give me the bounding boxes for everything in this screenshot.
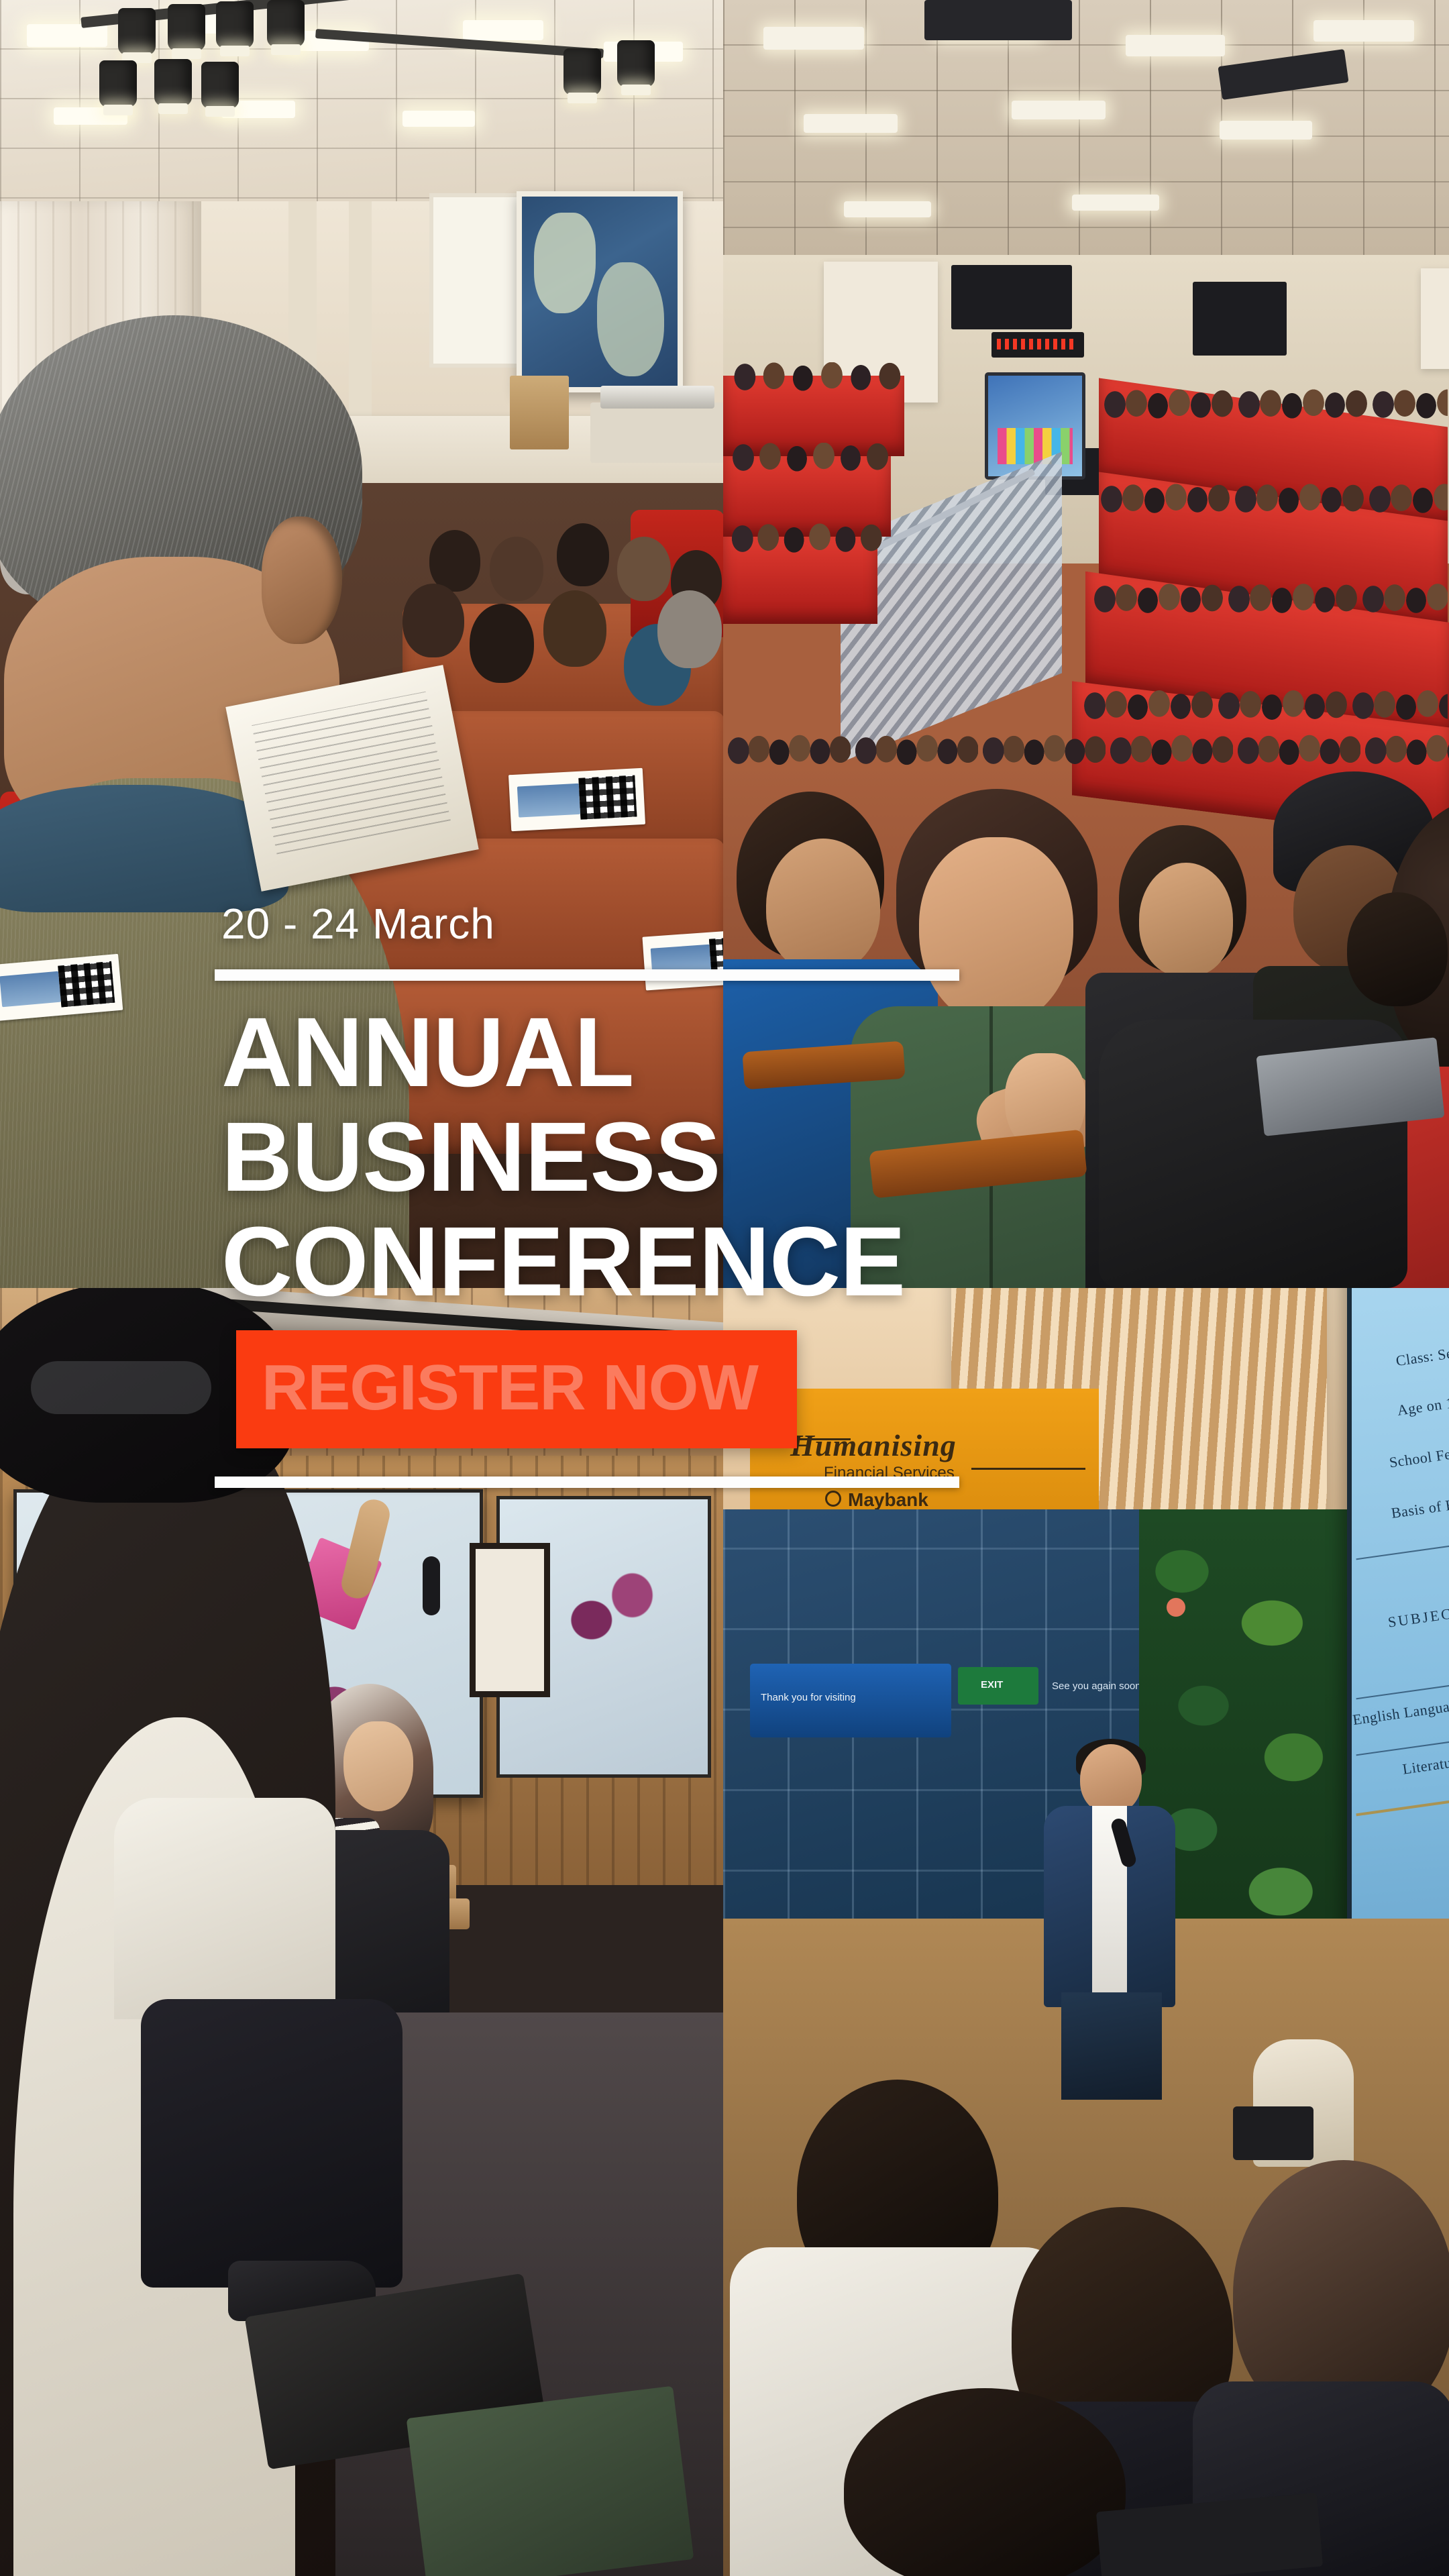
event-speaker [1032,1744,1186,2093]
event-date: 20 - 24 March [221,902,1449,945]
framed-artwork [470,1543,550,1697]
stage-spotlight [563,48,601,95]
screen-row-4: Basis of Eli [1391,1495,1449,1522]
poster-title: ANNUAL BUSINESS CONFERENCE [221,1001,1449,1314]
stage-spotlight [118,8,156,55]
crowd-row [723,523,884,554]
title-line-2: BUSINESS [221,1106,1449,1210]
poster-text-overlay: 20 - 24 March ANNUAL BUSINESS CONFERENCE… [0,902,1449,1488]
ceiling-lamp [1313,20,1414,42]
projector-table [590,402,723,463]
ceiling-lamp [804,114,898,133]
ceiling-rig [924,0,1072,40]
welcome-sign-text: See you again soon! [1052,1680,1144,1692]
stage-spotlight [154,59,192,106]
audience-head [470,604,534,683]
audience-head [557,523,609,586]
attendee-tshirt [114,1798,335,2019]
screen-subject-2: Literature [1401,1752,1449,1778]
ceiling-lamp [1220,121,1312,140]
side-tablet [1233,2106,1313,2160]
crowd-row [1095,483,1448,515]
audience-head [617,537,671,601]
wall-monitor [951,265,1072,329]
speaker-face [1080,1744,1142,1814]
maybank-logo-icon [825,1491,841,1507]
foreground-head [844,2388,1126,2576]
stage-spotlight [201,62,239,109]
led-display [991,332,1084,358]
ceiling-lamp [844,201,931,217]
microphone-stand [423,1556,440,1615]
divider-bottom [215,1477,959,1488]
crowd-row [723,362,904,392]
ceiling-lamp [463,20,543,40]
crowd-row [1079,688,1448,723]
exit-banner: Thank you for visiting [750,1664,951,1737]
stage-spotlight [267,0,305,47]
speaker-blazer [1044,1806,1175,2007]
ceiling-lamp [402,111,475,127]
maybank-brand: Maybank [848,1489,928,1511]
screen-rule [1356,1798,1449,1816]
attendee-ear [262,517,342,644]
stage-spotlight [99,60,137,107]
conference-poster: Humanising Financial Services Maybank Th… [0,0,1449,2576]
ceiling-lamp [1126,35,1225,56]
green-notebook [407,2386,694,2576]
divider-top [215,969,959,981]
projector [600,386,714,409]
audience-head [657,590,722,668]
register-now-button[interactable]: REGISTER NOW [236,1330,797,1448]
ceiling-lamp [763,27,864,50]
speaker-trousers [1061,1992,1162,2100]
wall-panel [1421,268,1449,369]
qr-code [578,775,637,820]
crowd-row [723,443,891,472]
badge-logo [517,784,580,817]
crowd-row [1099,389,1448,420]
seat-qr-badge [508,768,645,831]
screen-rule [1356,1543,1449,1560]
stage-spotlight [168,4,205,51]
ceiling-lamp [1012,101,1106,119]
exit-sign: EXIT [958,1667,1038,1705]
podium [510,376,569,449]
audience-head [543,590,606,667]
ceiling-lamp [1072,195,1159,211]
crowd-row [1089,582,1448,616]
slide-ornament [533,1538,679,1703]
screen-rule [1356,1682,1449,1699]
attendee-trousers [141,1999,402,2288]
title-line-1: ANNUAL [221,998,634,1108]
stage-spotlight [617,40,655,87]
audience-head [490,537,543,601]
screen-subject-1: English Language [1351,1696,1449,1729]
ceiling-lamp [27,24,107,47]
exit-sign-text: EXIT [981,1679,1003,1690]
exit-banner-text: Thank you for visiting [761,1692,856,1703]
world-map-display [517,191,683,392]
stage-spotlight [216,1,254,48]
screen-rule [1356,1739,1449,1756]
wall-monitor [1193,282,1287,356]
screen-heading: SUBJECT [1387,1603,1449,1631]
title-line-3: CONFERENCE [221,1210,1449,1315]
